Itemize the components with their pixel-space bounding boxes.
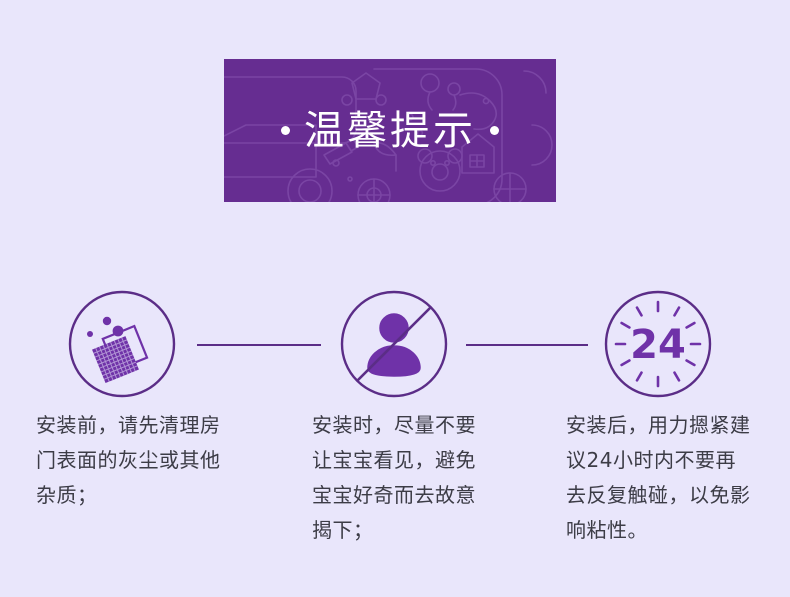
step-2-text: 安装时，尽量不要让宝宝看见，避免宝宝好奇而去故意揭下； (312, 408, 494, 548)
banner-title: 温馨提示 (304, 111, 476, 151)
step-3-text: 安装后，用力摁紧建议24小时内不要再去反复触碰，以免影响粘性。 (566, 408, 756, 548)
tips-banner: 温馨提示 (224, 59, 556, 202)
steps-icon-row: 24 (0, 288, 790, 403)
clock-24-label: 24 (630, 322, 686, 368)
cleaning-cloth-dust-icon (66, 288, 178, 400)
bullet-dot-right-icon (490, 126, 499, 135)
bullet-dot-left-icon (281, 126, 290, 135)
connector-line-1 (197, 344, 321, 346)
connector-line-2 (466, 344, 588, 346)
clock-24-hours-icon: 24 (602, 288, 714, 400)
step-1-text: 安装前，请先清理房门表面的灰尘或其他杂质； (36, 408, 226, 513)
no-person-prohibited-icon (338, 288, 450, 400)
banner-title-group: 温馨提示 (224, 59, 556, 202)
